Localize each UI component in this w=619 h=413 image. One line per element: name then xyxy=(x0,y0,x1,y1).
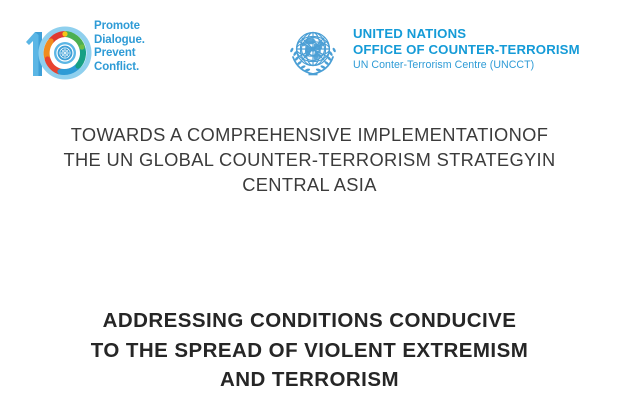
document-title-line-1: TOWARDS A COMPREHENSIVE IMPLEMENTATIONOF xyxy=(12,122,607,147)
tagline-line-2: Dialogue. xyxy=(94,34,172,48)
un-oct-wordmark: UNITED NATIONS OFFICE OF COUNTER-TERRORI… xyxy=(353,26,591,73)
section-heading: ADDRESSING CONDITIONS CONDUCIVE TO THE S… xyxy=(12,306,607,395)
anniversary-logo: Promote Dialogue. Prevent Conflict. xyxy=(22,20,172,82)
anniversary-mark-icon xyxy=(22,20,92,82)
section-heading-line-2: TO THE SPREAD OF VIOLENT EXTREMISM xyxy=(12,336,607,366)
tagline-line-4: Conflict. xyxy=(94,61,172,75)
document-title-line-3: CENTRAL ASIA xyxy=(12,172,607,197)
document-title: TOWARDS A COMPREHENSIVE IMPLEMENTATIONOF… xyxy=(12,122,607,197)
document-page: Promote Dialogue. Prevent Conflict. xyxy=(0,0,619,413)
tagline-line-3: Prevent xyxy=(94,47,172,61)
logo-band: Promote Dialogue. Prevent Conflict. xyxy=(0,0,619,105)
un-oct-line-2: OFFICE OF COUNTER-TERRORISM xyxy=(353,42,591,58)
un-oct-logo: UNITED NATIONS OFFICE OF COUNTER-TERRORI… xyxy=(281,22,591,84)
un-oct-line-1: UNITED NATIONS xyxy=(353,26,591,42)
tagline-line-1: Promote xyxy=(94,20,172,34)
un-emblem-icon xyxy=(281,22,345,82)
un-oct-line-3: UN Conter-Terrorism Centre (UNCCT) xyxy=(353,57,591,73)
section-heading-line-1: ADDRESSING CONDITIONS CONDUCIVE xyxy=(12,306,607,336)
anniversary-tagline: Promote Dialogue. Prevent Conflict. xyxy=(94,20,172,74)
document-title-line-2: THE UN GLOBAL COUNTER-TERRORISM STRATEGY… xyxy=(12,147,607,172)
section-heading-line-3: AND TERRORISM xyxy=(12,365,607,395)
